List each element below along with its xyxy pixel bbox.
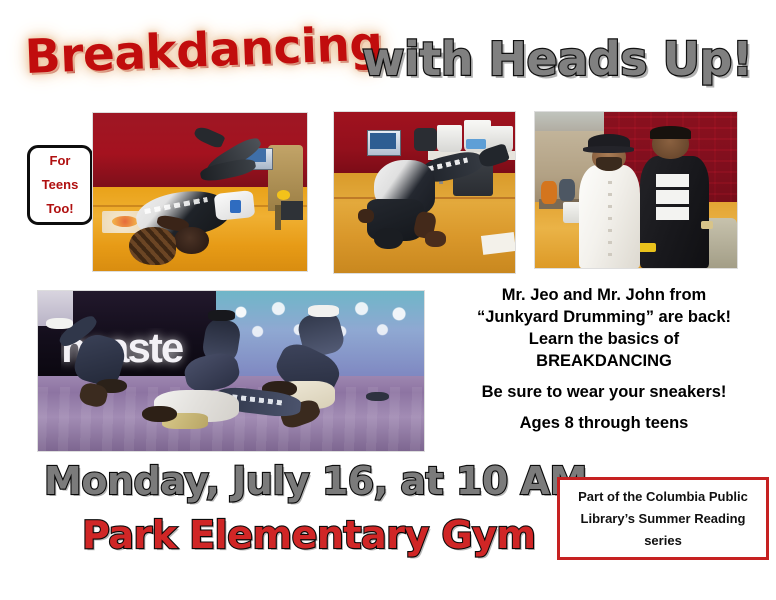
info-line-learn-basics: Learn the basics of — [432, 328, 776, 350]
event-description: Mr. Jeo and Mr. John from “Junkyard Drum… — [432, 284, 776, 434]
series-box-line-2: Library’s Summer Reading — [581, 508, 746, 530]
photo2-dancer-hand-right — [425, 231, 447, 247]
photo1-equipment-box — [281, 201, 302, 220]
photo2-dancer-knee — [374, 228, 403, 249]
photo2-bag — [414, 128, 438, 151]
photo3-tshirt-text-line-1 — [656, 174, 688, 186]
photo2-bucket-1 — [437, 125, 462, 152]
teens-badge-line-3: Too! — [46, 197, 73, 221]
info-spacer-2 — [432, 403, 776, 412]
info-line-presenters: Mr. Jeo and Mr. John from — [432, 284, 776, 306]
photo3-shirt-buttons — [608, 181, 612, 256]
photo3-hat-brim — [583, 146, 634, 152]
photo3-tshirt-text-line-2 — [656, 190, 688, 204]
event-location: Park Elementary Gym — [82, 513, 536, 557]
photo-group-breakdance-stage: ncaste — [37, 290, 425, 452]
photo-breakdancer-headstand-gym — [92, 112, 308, 272]
photo4-dancer-3-head — [142, 406, 177, 422]
photo4-stage-prop — [366, 392, 389, 402]
info-line-ages: Ages 8 through teens — [432, 412, 776, 434]
summer-reading-series-box: Part of the Columbia Public Library’s Su… — [557, 477, 769, 560]
photo-two-instructors-portrait — [534, 111, 738, 269]
teens-badge-line-2: Teens — [42, 173, 79, 197]
info-line-junkyard-drumming: “Junkyard Drumming” are back! — [432, 306, 776, 328]
photo4-dancer-4-shoe — [308, 305, 339, 316]
photo4-dancer-2-shoe — [208, 310, 235, 321]
flyer-canvas: Breakdancing with Heads Up! For Teens To… — [0, 0, 776, 600]
info-line-breakdancing: BREAKDANCING — [432, 350, 776, 372]
photo3-man-black-shirt-hair — [650, 126, 690, 138]
for-teens-too-badge: For Teens Too! — [27, 145, 93, 225]
title-breakdancing: Breakdancing — [24, 16, 384, 85]
info-line-sneakers: Be sure to wear your sneakers! — [432, 381, 776, 403]
photo1-dancer-hair — [129, 227, 176, 265]
photo2-bucket-label — [466, 139, 486, 149]
photo2-dancer-hand-left — [358, 209, 374, 223]
series-box-line-1: Part of the Columbia Public — [578, 486, 748, 508]
photo3-background-person-2 — [559, 179, 575, 201]
photo3-background-person-1 — [541, 181, 557, 204]
photo1-yellow-object — [277, 190, 290, 199]
teens-badge-line-1: For — [50, 149, 71, 173]
series-box-line-3: series — [644, 530, 682, 552]
photo-breakdancer-crouch-legs-out — [333, 111, 516, 274]
photo4-dancer-1-shoe — [46, 318, 73, 329]
photo1-mat-logo — [112, 216, 138, 227]
photo3-tshirt-text-line-3 — [656, 207, 688, 219]
title-with-heads-up: with Heads Up! — [362, 32, 752, 86]
photo3-wristwatch — [701, 221, 713, 229]
photo1-dancer-head — [174, 227, 208, 254]
photo2-laptop-screen — [370, 133, 395, 149]
photo1-shorts-logo — [230, 200, 241, 213]
info-spacer-1 — [432, 372, 776, 381]
flyer-title: Breakdancing with Heads Up! — [0, 26, 776, 98]
event-date-time: Monday, July 16, at 10 AM — [44, 459, 587, 503]
